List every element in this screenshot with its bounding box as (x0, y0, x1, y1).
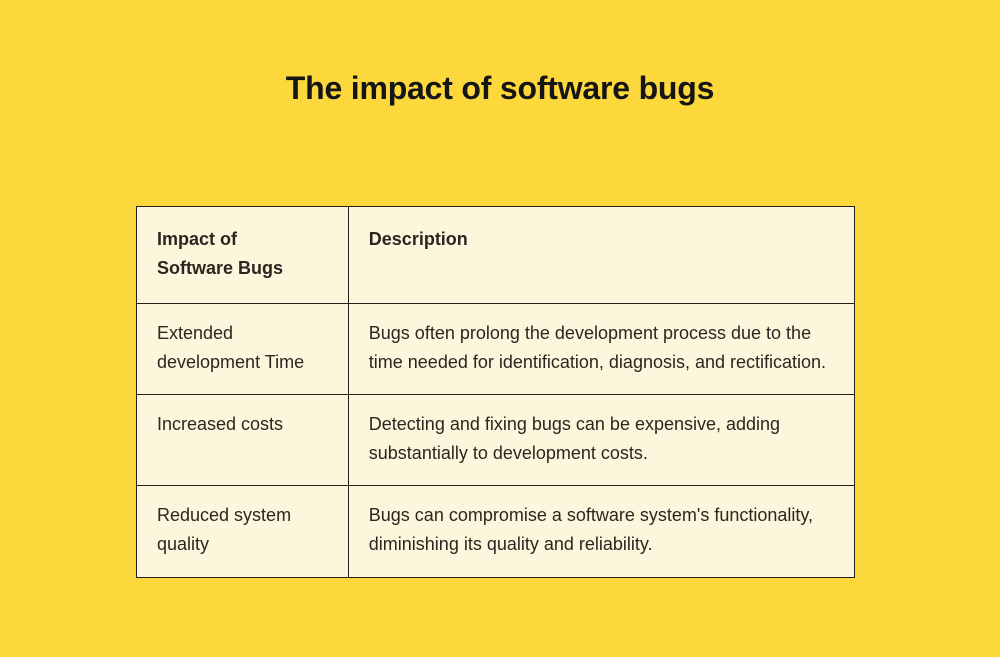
poster-canvas: The impact of software bugs Impact of So… (0, 0, 1000, 657)
row-impact-label: Extended development Time (137, 304, 348, 395)
row-description-text: Bugs often prolong the development proce… (348, 304, 854, 395)
column-header-impact-line2: Software Bugs (157, 258, 283, 278)
column-header-description: Description (348, 207, 854, 304)
column-header-impact: Impact of Software Bugs (137, 207, 348, 304)
impact-table: Impact of Software Bugs Description Exte… (137, 207, 854, 577)
row-description-text: Bugs can compromise a software system's … (348, 486, 854, 578)
table-row: Reduced system quality Bugs can compromi… (137, 486, 854, 578)
row-impact-label: Reduced system quality (137, 486, 348, 578)
page-title: The impact of software bugs (0, 66, 1000, 110)
column-header-impact-line1: Impact of (157, 229, 237, 249)
row-description-text: Detecting and fixing bugs can be expensi… (348, 395, 854, 486)
table-row: Increased costs Detecting and fixing bug… (137, 395, 854, 486)
impact-table-container: Impact of Software Bugs Description Exte… (136, 206, 855, 578)
table-header-row: Impact of Software Bugs Description (137, 207, 854, 304)
table-row: Extended development Time Bugs often pro… (137, 304, 854, 395)
row-impact-label: Increased costs (137, 395, 348, 486)
